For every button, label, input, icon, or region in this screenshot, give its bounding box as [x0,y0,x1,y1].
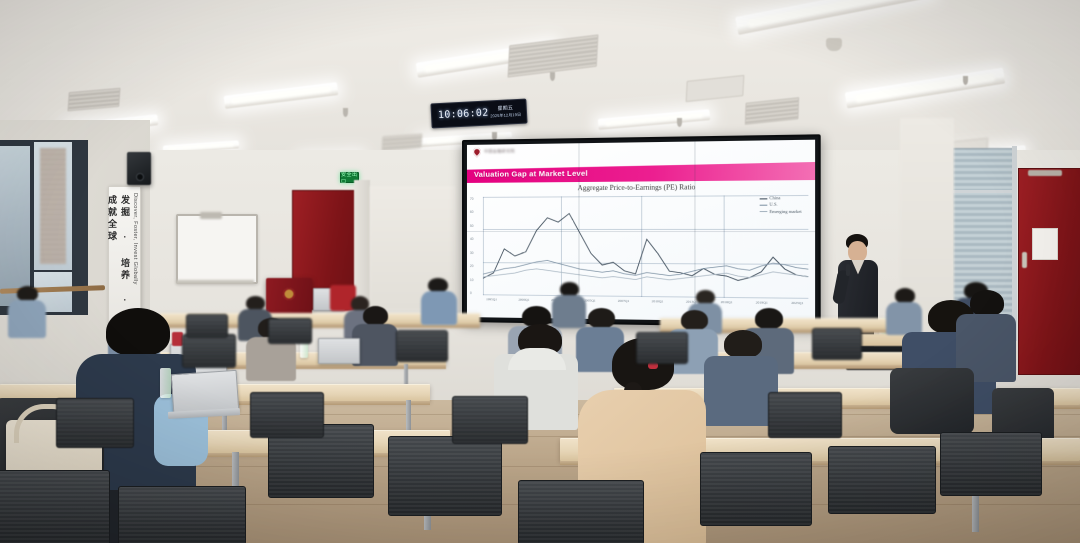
ceiling-camera [826,38,842,51]
chair[interactable] [812,328,862,360]
chair[interactable] [250,392,324,438]
y-tick-label: 10 [470,278,474,282]
audience-hair [970,290,1004,316]
clock-time: 10:06:02 [432,108,489,122]
sprinkler-head [677,118,682,127]
y-tick-label: 20 [470,264,474,268]
vertical-banner: 发掘 · 培养 · 成就全球 Discover, Foster, Invest … [108,186,141,328]
chair[interactable] [396,330,448,362]
institution-logo: 中国金融研究院 [473,147,515,156]
audience-torso [704,356,778,426]
chair[interactable] [182,334,236,368]
chair[interactable] [0,470,110,543]
chart-legend: China U.S. Emerging market [760,195,802,215]
chart-title: Aggregate Price-to-Earnings (PE) Ratio [467,182,815,193]
laptop [318,338,360,364]
y-tick-label: 0 [470,291,472,295]
sprinkler-head [963,76,968,85]
slide-title: Valuation Gap at Market Level [474,169,588,179]
whiteboard-marker-tray [176,280,254,284]
audience-member [420,278,458,323]
audience-hair [724,330,762,358]
chair[interactable] [636,332,688,364]
banner-english-text: Discover, Foster, Invest Globally [132,193,138,321]
red-door-right [1018,168,1080,375]
x-tick-label: 1995Q1 [486,297,497,301]
microphone [846,264,850,276]
clock-date: 2025年12月19日 [490,113,521,119]
audience-member [8,286,48,336]
legend-label: Emerging market [769,208,801,215]
chair[interactable] [268,318,312,344]
chair[interactable] [118,486,246,543]
slide-content: 中国金融研究院 Valuation Gap at Market Level Ag… [467,140,815,323]
hvac-vent [382,134,423,151]
pe-ratio-line-chart: China U.S. Emerging market 1995Q12000Q12… [483,195,808,299]
presenter-head [848,241,867,262]
x-tick-label: 2000Q1 [518,298,529,302]
y-tick-label: 70 [470,197,474,201]
chair[interactable] [700,452,812,526]
coat-on-chair [890,368,974,434]
y-tick-label: 30 [470,251,474,255]
sprinkler-head [550,72,555,81]
logo-mark-icon [471,146,482,157]
door-handle [1022,252,1027,268]
chair[interactable] [388,436,502,516]
chair[interactable] [452,396,528,444]
x-tick-label: 2019Q1 [756,300,768,304]
y-tick-label: 40 [470,237,474,241]
door-sign [1032,228,1058,260]
exterior-brick [40,148,66,264]
chair[interactable] [768,392,842,438]
y-tick-label: 60 [470,210,474,214]
legend-item: Emerging market [760,208,802,215]
whiteboard [176,214,258,284]
door-closer [1028,170,1062,176]
sprinkler-head [343,108,348,117]
chair[interactable] [828,446,936,514]
window-glass [0,146,30,306]
led-clock-sign: 10:06:02 星期五 2025年12月19日 [430,99,527,129]
projector-mount [200,212,222,219]
lecture-hall-photo: 10:06:02 星期五 2025年12月19日 发掘 · 培养 · 成就全球 … [0,0,1080,543]
audience-hair [106,308,170,356]
banner-chinese-text: 发掘 · 培养 · 成就全球 [116,195,132,317]
x-tick-label: 2010Q1 [652,299,664,303]
chair[interactable] [940,432,1042,496]
logo-text: 中国金融研究院 [484,148,515,154]
chair[interactable] [186,314,228,338]
x-tick-label: 2007Q1 [618,299,629,303]
water-bottle [160,368,171,398]
wall-column [354,180,370,310]
partition-mullion [950,190,1016,193]
wall-speaker [127,152,151,185]
chair[interactable] [518,480,644,543]
presentation-screen[interactable]: 中国金融研究院 Valuation Gap at Market Level Ag… [462,134,821,327]
chair[interactable] [56,398,134,448]
y-tick-label: 50 [470,224,474,228]
x-tick-label: 2023Q1 [791,301,803,305]
